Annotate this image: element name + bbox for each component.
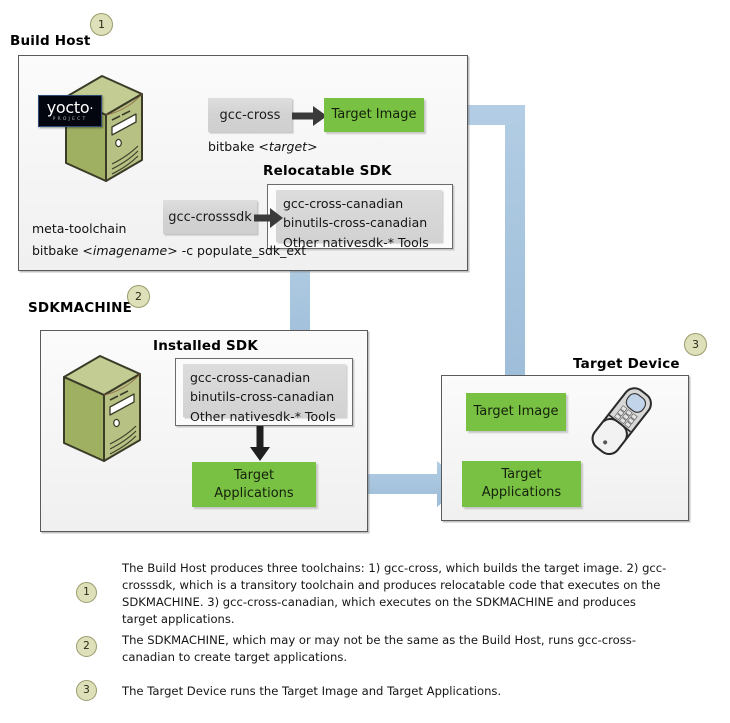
build-host-badge: 1 [90, 13, 113, 36]
bitbake-sdk-prefix: bitbake [32, 243, 82, 258]
bitbake-sdk-suffix: -c populate_sdk_ext [178, 243, 306, 258]
yocto-logo-subtitle: PROJECT [53, 118, 88, 123]
target-device-badge: 3 [684, 333, 707, 356]
legend-text-3: The Target Device runs the Target Image … [122, 683, 670, 700]
bitbake-sdk-italic: <imagename> [82, 243, 177, 258]
target-device-title: Target Device [573, 356, 680, 372]
arrow-gcc-cross-to-image [292, 105, 328, 127]
build-host-target-image-box: Target Image [324, 98, 424, 132]
sdkmachine-badge: 2 [127, 285, 150, 308]
bitbake-sdk-label: bitbake <imagename> -c populate_sdk_ext [32, 243, 306, 258]
device-target-apps-box: Target Applications [462, 461, 581, 507]
yocto-logo-text: yocto [47, 98, 90, 117]
relocatable-sdk-title: Relocatable SDK [263, 163, 392, 179]
installed-sdk-item: binutils-cross-canadian [190, 387, 339, 406]
installed-sdk-title: Installed SDK [153, 338, 258, 354]
gcc-crosssdk-chip: gcc-crosssdk [163, 200, 257, 234]
bitbake-target-prefix: bitbake [208, 139, 258, 154]
mobile-phone-icon [586, 382, 658, 458]
yocto-logo-word: yocto· [47, 100, 93, 116]
bitbake-target-italic: <target> [258, 139, 317, 154]
legend-badge-1: 1 [76, 582, 97, 603]
relocatable-sdk-contents: gcc-cross-canadian binutils-cross-canadi… [276, 190, 442, 242]
sdkmachine-server-icon [58, 352, 148, 467]
arrow-crosssdk-to-sdk [254, 207, 284, 229]
sdkmachine-target-apps-line1: Target [234, 467, 274, 485]
legend-text-2: The SDKMACHINE, which may or may not be … [122, 632, 670, 666]
gcc-cross-chip: gcc-cross [208, 98, 292, 132]
device-target-image-box: Target Image [466, 393, 566, 431]
yocto-logo-dot: · [89, 102, 93, 117]
installed-sdk-contents: gcc-cross-canadian binutils-cross-canadi… [183, 364, 346, 417]
build-host-server-icon [60, 72, 150, 187]
device-target-apps-line1: Target [501, 466, 541, 484]
yocto-project-logo: yocto· PROJECT [38, 95, 102, 127]
meta-toolchain-label: meta-toolchain [32, 221, 126, 236]
relocatable-sdk-item: binutils-cross-canadian [283, 213, 435, 232]
arrow-sdk-to-target-apps [249, 426, 271, 462]
legend-badge-2: 2 [76, 636, 97, 657]
bitbake-target-label: bitbake <target> [208, 139, 318, 154]
sdkmachine-target-apps-box: Target Applications [192, 462, 316, 507]
legend-badge-3: 3 [76, 680, 97, 701]
relocatable-sdk-item: gcc-cross-canadian [283, 194, 435, 213]
build-host-title: Build Host [10, 33, 91, 49]
legend-text-1: The Build Host produces three toolchains… [122, 560, 670, 628]
device-target-apps-line2: Applications [482, 484, 561, 502]
installed-sdk-item: Other nativesdk-* Tools [190, 407, 339, 426]
sdkmachine-target-apps-line2: Applications [214, 485, 293, 503]
sdkmachine-title: SDKMACHINE [28, 300, 132, 316]
installed-sdk-item: gcc-cross-canadian [190, 368, 339, 387]
